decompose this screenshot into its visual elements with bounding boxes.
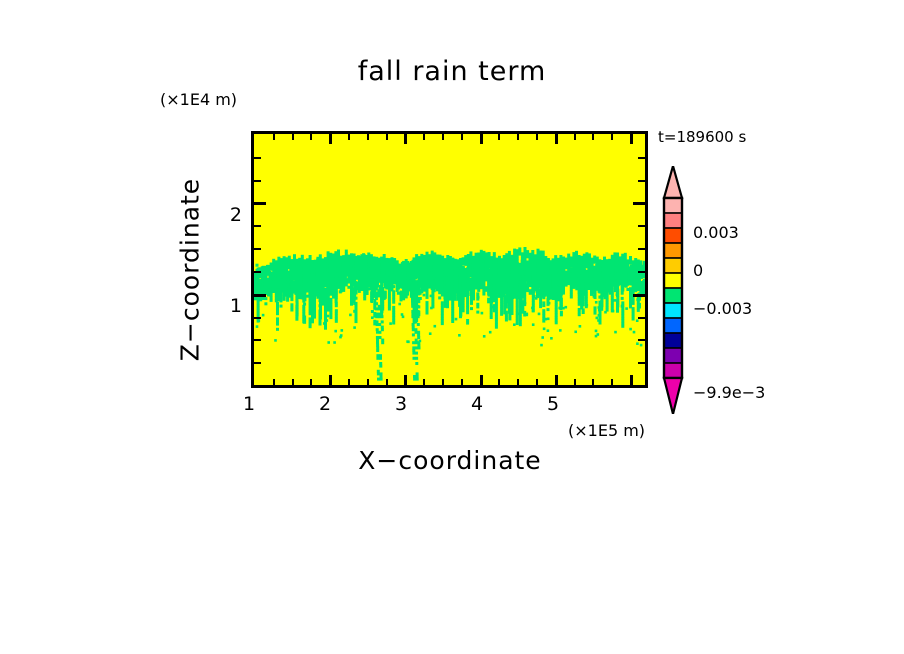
y-tick-right (638, 180, 645, 182)
x-tick-top (310, 134, 312, 140)
x-tick (367, 379, 369, 385)
y-tick (254, 225, 261, 227)
x-tick (517, 379, 519, 385)
colorbar-label-3: −9.9e−3 (693, 383, 765, 402)
y-tick (254, 339, 261, 341)
y-tick (254, 362, 261, 364)
colorbar-label-1: 0 (693, 261, 703, 280)
y-tick-right (638, 317, 645, 319)
y-tick-right (638, 339, 645, 341)
x-tick-label-2: 2 (310, 393, 340, 415)
x-tick-label-5: 5 (538, 393, 568, 415)
x-tick (423, 379, 425, 385)
y-tick-right (638, 271, 645, 273)
x-axis-title: X−coordinate (250, 446, 650, 475)
colorbar-band (664, 303, 682, 318)
colorbar-arrow-bottom (664, 378, 682, 414)
x-tick (442, 379, 444, 385)
x-tick-top (517, 134, 519, 140)
x-tick (555, 375, 558, 385)
colorbar-band (664, 348, 682, 363)
x-tick-top (536, 134, 538, 140)
x-tick (498, 379, 500, 385)
y-tick-label-1: 1 (212, 295, 242, 317)
y-tick-right (638, 248, 645, 250)
x-tick-top (480, 134, 483, 144)
x-tick (536, 379, 538, 385)
plot-area (251, 131, 648, 388)
x-tick (592, 379, 594, 385)
y-tick-label-2: 2 (212, 204, 242, 226)
y-tick-right (633, 202, 645, 205)
x-tick (348, 379, 350, 385)
colorbar-band (664, 363, 682, 378)
x-tick-label-1: 1 (234, 393, 264, 415)
figure-canvas: fall rain term (×1E4 m) t=189600 s 1 2 3… (0, 0, 904, 654)
y-tick (254, 294, 266, 297)
x-tick (480, 375, 483, 385)
colorbar-band (664, 213, 682, 228)
colorbar-band (664, 288, 682, 303)
colorbar-arrow-top (664, 166, 682, 198)
x-tick-top (348, 134, 350, 140)
x-tick-label-4: 4 (462, 393, 492, 415)
y-tick (254, 180, 261, 182)
y-tick-right (633, 294, 645, 297)
x-tick (611, 379, 613, 385)
y-axis-title: Z−coordinate (176, 70, 205, 470)
colorbar-band (664, 243, 682, 258)
x-tick-top (592, 134, 594, 140)
x-tick-top (386, 134, 388, 140)
x-tick-top (498, 134, 500, 140)
y-tick-right (638, 362, 645, 364)
colorbar (661, 166, 685, 414)
x-tick-top (423, 134, 425, 140)
x-axis-unit-label: (×1E5 m) (568, 421, 645, 440)
x-tick-top (574, 134, 576, 140)
x-tick-label-3: 3 (386, 393, 416, 415)
colorbar-label-0: 0.003 (693, 223, 739, 242)
colorbar-band (664, 273, 682, 288)
x-tick (404, 375, 407, 385)
x-tick-top (442, 134, 444, 140)
colorbar-band (664, 228, 682, 243)
x-tick (461, 379, 463, 385)
x-tick (310, 379, 312, 385)
x-tick (386, 379, 388, 385)
colorbar-label-2: −0.003 (693, 299, 752, 318)
x-tick (273, 379, 275, 385)
x-tick-top (630, 134, 633, 144)
x-tick (630, 375, 633, 385)
x-tick-top (273, 134, 275, 140)
x-tick (329, 375, 332, 385)
heatmap-field (254, 134, 645, 385)
colorbar-band (664, 198, 682, 213)
x-tick-top (461, 134, 463, 140)
x-tick-top (555, 134, 558, 144)
colorbar-svg (661, 166, 685, 414)
y-tick (254, 271, 261, 273)
timestamp-label: t=189600 s (658, 128, 746, 146)
x-tick-top (367, 134, 369, 140)
y-tick-right (638, 157, 645, 159)
colorbar-band (664, 258, 682, 273)
y-tick (254, 317, 261, 319)
colorbar-band (664, 333, 682, 348)
x-tick-top (611, 134, 613, 140)
y-tick (254, 248, 261, 250)
x-tick-top (404, 134, 407, 144)
y-tick (254, 202, 266, 205)
y-tick (254, 157, 261, 159)
colorbar-band (664, 318, 682, 333)
x-tick (574, 379, 576, 385)
x-tick-top (329, 134, 332, 144)
x-tick (292, 379, 294, 385)
y-tick-right (638, 225, 645, 227)
page-title: fall rain term (0, 56, 904, 87)
x-tick-top (292, 134, 294, 140)
